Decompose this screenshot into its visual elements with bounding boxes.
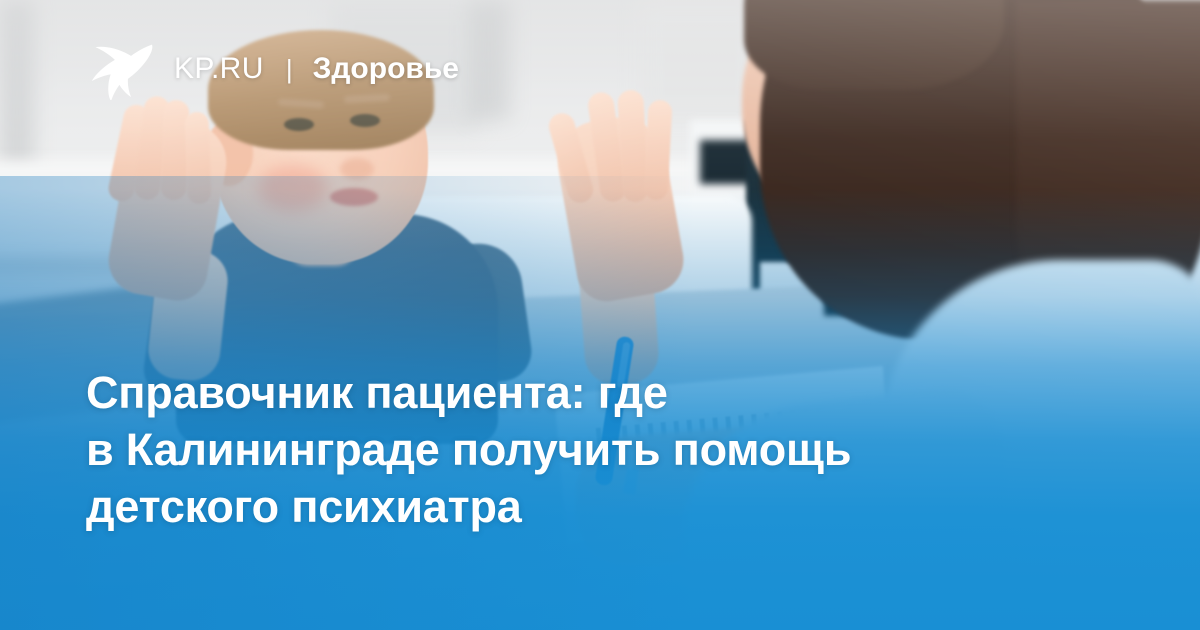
brand-name[interactable]: KP.RU xyxy=(174,52,264,86)
swallow-bird-icon xyxy=(88,38,156,100)
brand-header: KP.RU | Здоровье xyxy=(88,38,459,100)
headline-line: Справочник пациента: где xyxy=(86,364,1096,421)
photo-boy-nose xyxy=(340,158,374,180)
photo-boy-eye xyxy=(350,114,380,127)
photo-boy-eye xyxy=(284,118,314,131)
photo-wall-band xyxy=(470,0,510,120)
photo-boy-cheek xyxy=(258,165,328,211)
photo-boy-finger xyxy=(184,112,211,205)
headline-line: в Калининграде получить помощь xyxy=(86,421,1096,478)
brand-separator: | xyxy=(286,54,293,85)
section-name[interactable]: Здоровье xyxy=(313,52,459,86)
article-headline: Справочник пациента: где в Калининграде … xyxy=(86,364,1096,535)
photo-boy-mouth xyxy=(330,188,378,206)
headline-line: детского психиатра xyxy=(86,478,1096,535)
article-share-card: KP.RU | Здоровье Справочник пациента: гд… xyxy=(0,0,1200,630)
